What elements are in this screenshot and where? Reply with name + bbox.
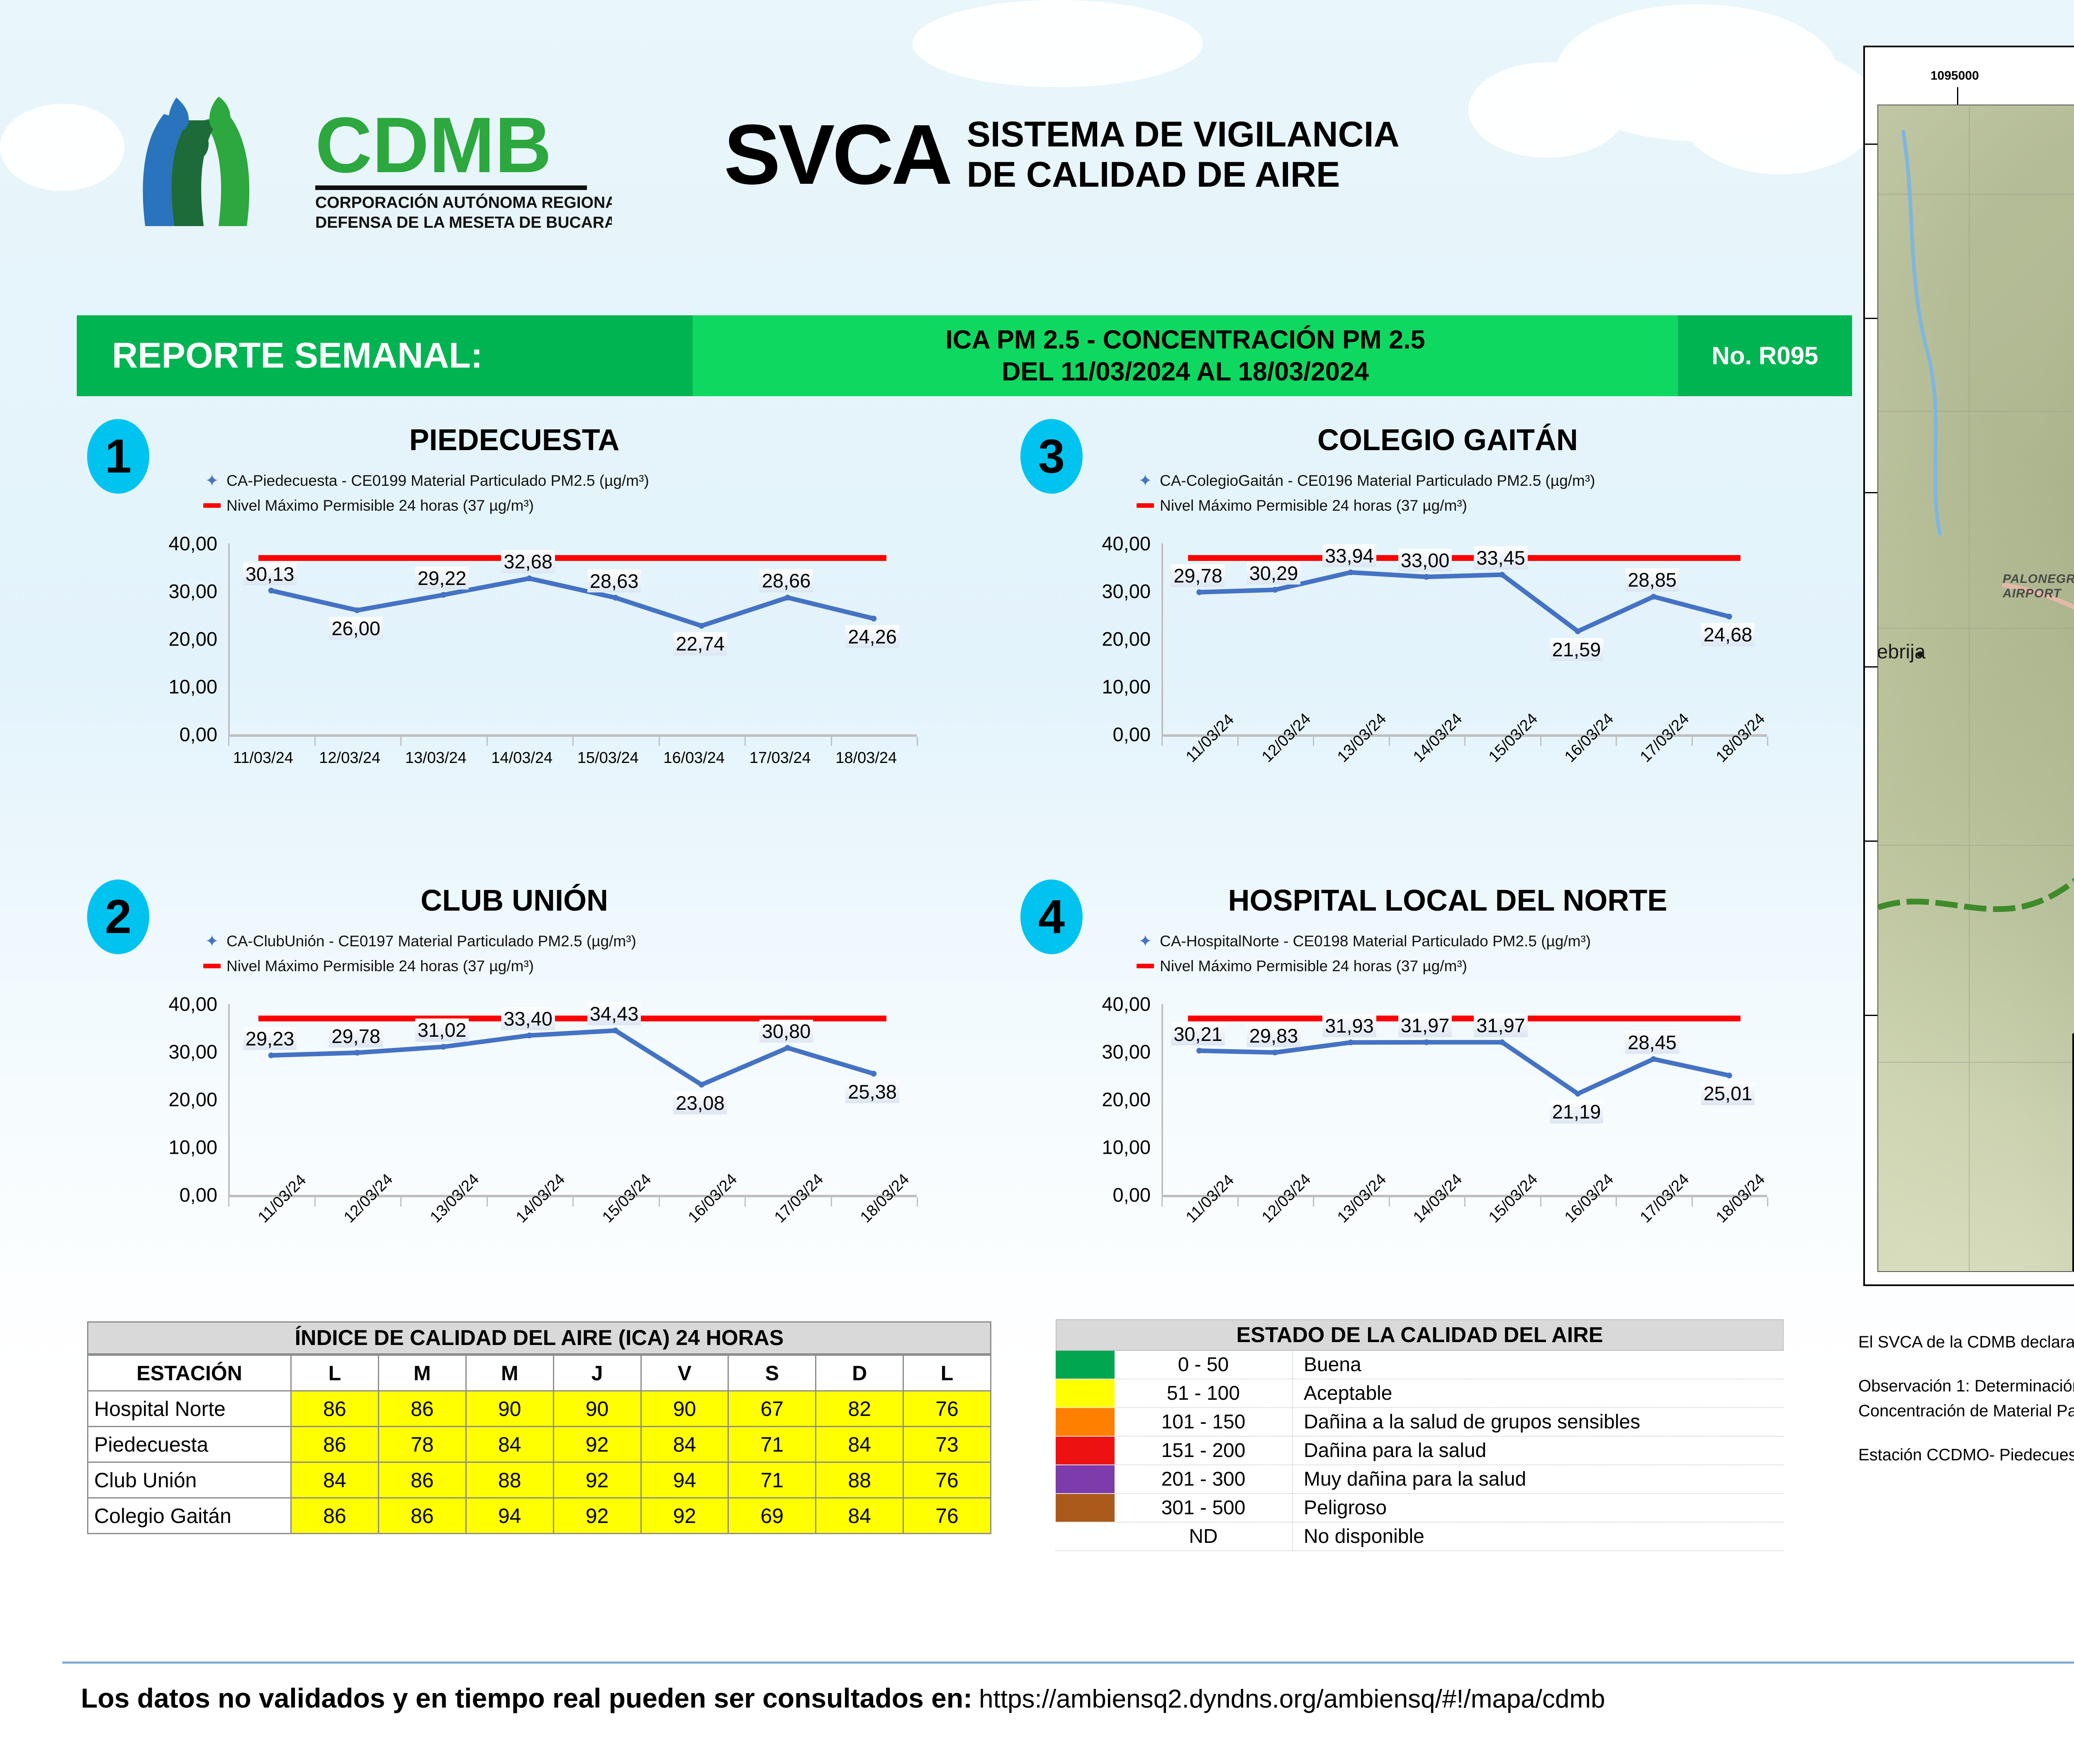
y-axis-tick-label: 0,00: [180, 1184, 217, 1206]
y-axis-tick-label: 0,00: [180, 723, 217, 746]
legend-limit: Nivel Máximo Permisible 24 horas (37 µg/…: [203, 954, 636, 978]
table-header-row: ESTACIÓNLMMJVSDL: [88, 1355, 991, 1391]
svg-text:CDMB: CDMB: [315, 101, 552, 189]
y-axis-tick-label: 20,00: [1102, 628, 1151, 651]
plot-area: 0,0010,0020,0030,0040,0029,2329,7831,023…: [228, 1004, 917, 1195]
aqi-legend-row: NDNo disponible: [1056, 1523, 1784, 1551]
legend-series-label: CA-ClubUnión - CE0197 Material Particula…: [226, 929, 636, 953]
x-axis-tick: [1313, 737, 1314, 746]
note-uncertainty: Estación CCDMO- Piedecuesta: 1.076; Esta…: [1858, 1442, 2074, 1467]
map-tick: [1865, 492, 1879, 493]
chart-legend: ✦CA-Piedecuesta - CE0199 Material Partic…: [203, 468, 649, 517]
x-axis-tick: [659, 737, 660, 746]
x-axis-tick: [1389, 737, 1390, 746]
ica-value-cell: 92: [553, 1462, 641, 1498]
aqi-legend-row: 301 - 500Peligroso: [1056, 1494, 1784, 1523]
map-tick: [1865, 144, 1879, 145]
data-point-label: 34,43: [587, 1002, 641, 1025]
ica-value-cell: 86: [378, 1498, 466, 1534]
map-legend-conventions: CONVENCIONES PUNTO, ESTACION 1, Centro C…: [2072, 1033, 2074, 1272]
ica-col-header: L: [291, 1355, 379, 1391]
aqi-color-swatch: [1056, 1379, 1115, 1407]
note-observation: Observación 1: Determinación Directa en …: [1858, 1374, 2074, 1423]
map-tick: [1865, 318, 1879, 319]
plot-area: 0,0010,0020,0030,0040,0030,2129,8331,933…: [1161, 1004, 1767, 1195]
aqi-legend-title: ESTADO DE LA CALIDAD DEL AIRE: [1056, 1319, 1784, 1351]
data-point-label: 31,97: [1474, 1014, 1528, 1037]
x-axis-tick: [1616, 737, 1617, 746]
legend-series: ✦CA-Piedecuesta - CE0199 Material Partic…: [203, 468, 649, 494]
banner-title-line2: DEL 11/03/2024 AL 18/03/2024: [1002, 356, 1369, 388]
x-axis-tick-label: 13/03/24: [405, 749, 467, 767]
y-axis-tick-label: 10,00: [1102, 675, 1151, 698]
aqi-color-swatch: [1056, 1437, 1115, 1464]
ica-col-header: M: [466, 1355, 553, 1391]
aqi-range-label: 201 - 300: [1115, 1465, 1293, 1493]
ica-value-cell: 76: [903, 1391, 991, 1427]
x-axis-tick: [745, 737, 746, 746]
ica-value-cell: 86: [378, 1462, 466, 1498]
map-tick: [1865, 666, 1879, 668]
legend-limit-label: Nivel Máximo Permisible 24 horas (37 µg/…: [226, 494, 534, 517]
ica-value-cell: 67: [728, 1391, 816, 1427]
data-point-label: 30,80: [759, 1020, 813, 1043]
ica-value-cell: 92: [553, 1427, 641, 1462]
data-point-label: 29,23: [243, 1027, 297, 1050]
aqi-legend-row: 201 - 300Muy dañina para la salud: [1056, 1465, 1784, 1494]
aqi-legend-row: 101 - 150Dañina a la salud de grupos sen…: [1056, 1408, 1784, 1437]
x-axis-tick: [1692, 1197, 1693, 1206]
data-point-label: 25,38: [845, 1080, 899, 1103]
map-x-coord-label: 1095000: [1930, 69, 1979, 83]
data-point-label: 32,68: [501, 550, 555, 573]
x-axis-tick: [1767, 737, 1768, 746]
x-axis-tick: [1464, 737, 1465, 746]
ica-value-cell: 88: [466, 1462, 553, 1498]
x-axis-tick-label: 12/03/24: [319, 749, 380, 767]
chart-legend: ✦CA-ClubUnión - CE0197 Material Particul…: [203, 928, 636, 978]
notes-block: El SVCA de la CDMB declara que los resul…: [1858, 1330, 2074, 1486]
banner-title-line1: ICA PM 2.5 - CONCENTRACIÓN PM 2.5: [945, 324, 1425, 356]
chart-title: CLUB UNIÓN: [224, 884, 805, 918]
y-axis-tick-label: 10,00: [168, 675, 217, 698]
ica-value-cell: 86: [291, 1498, 379, 1534]
ica-col-header: ESTACIÓN: [88, 1355, 291, 1391]
x-axis-tick: [1767, 1197, 1768, 1206]
aqi-range-label: ND: [1115, 1523, 1293, 1550]
x-axis-tick: [228, 737, 229, 746]
aqi-range-label: 151 - 200: [1115, 1437, 1293, 1464]
x-axis-tick: [314, 1197, 316, 1206]
legend-limit-label: Nivel Máximo Permisible 24 horas (37 µg/…: [226, 954, 534, 978]
x-axis-tick: [745, 1197, 746, 1206]
x-axis-tick: [487, 737, 488, 746]
cdmb-logo: CDMB CORPORACIÓN AUTÓNOMA REGIONAL PARA …: [106, 89, 612, 247]
legend-series: ✦CA-HospitalNorte - CE0198 Material Part…: [1137, 928, 1591, 954]
y-axis-tick-label: 0,00: [1113, 1184, 1151, 1206]
ica-value-cell: 82: [816, 1391, 903, 1427]
ica-station-name: Colegio Gaitán: [88, 1498, 291, 1534]
data-point-label: 23,08: [673, 1092, 727, 1114]
aqi-legend-row: 0 - 50Buena: [1056, 1351, 1784, 1379]
aqi-color-swatch: [1056, 1408, 1115, 1436]
org-subtitle-line1: CORPORACIÓN AUTÓNOMA REGIONAL PARA LA: [315, 193, 612, 212]
ica-value-cell: 92: [553, 1498, 641, 1534]
aqi-color-swatch: [1056, 1523, 1115, 1550]
aqi-description: Dañina a la salud de grupos sensibles: [1293, 1408, 1784, 1436]
aqi-description: Muy dañina para la salud: [1293, 1465, 1784, 1493]
legend-limit-label: Nivel Máximo Permisible 24 horas (37 µg/…: [1160, 494, 1467, 517]
legend-limit: Nivel Máximo Permisible 24 horas (37 µg/…: [1137, 494, 1595, 517]
data-point-label: 33,00: [1398, 549, 1452, 572]
legend-limit-label: Nivel Máximo Permisible 24 horas (37 µg/…: [1160, 954, 1467, 978]
ica-col-header: V: [641, 1355, 728, 1391]
y-axis-tick-label: 30,00: [168, 580, 217, 603]
series-marker-icon: ✦: [203, 468, 221, 494]
aqi-color-swatch: [1056, 1465, 1115, 1493]
org-subtitle-line2: DEFENSA DE LA MESETA DE BUCARAMANGA: [315, 214, 612, 231]
data-point-label: 30,21: [1171, 1023, 1225, 1045]
note-validity: El SVCA de la CDMB declara que los resul…: [1858, 1330, 2074, 1355]
station-badge-4: 4: [1020, 880, 1083, 954]
plot-area: 0,0010,0020,0030,0040,0030,1326,0029,223…: [228, 543, 917, 734]
chart-title: HOSPITAL LOCAL DEL NORTE: [1157, 884, 1738, 918]
table-row: Club Unión8486889294718876: [88, 1462, 991, 1498]
ica-value-cell: 84: [291, 1462, 379, 1498]
chart-legend: ✦CA-HospitalNorte - CE0198 Material Part…: [1137, 928, 1591, 978]
aqi-legend-block: ESTADO DE LA CALIDAD DEL AIRE 0 - 50Buen…: [1056, 1319, 1784, 1551]
chart-legend: ✦CA-ColegioGaitán - CE0196 Material Part…: [1137, 468, 1595, 517]
data-point-label: 31,93: [1322, 1014, 1376, 1037]
banner-report-number: No. R095: [1678, 315, 1852, 396]
ica-value-cell: 90: [553, 1391, 641, 1427]
station-badge-2: 2: [87, 880, 149, 954]
y-axis-tick-label: 30,00: [1102, 1040, 1151, 1063]
legend-series-label: CA-ColegioGaitán - CE0196 Material Parti…: [1160, 469, 1595, 492]
ica-station-name: Club Unión: [88, 1462, 291, 1498]
ica-station-name: Hospital Norte: [88, 1391, 291, 1427]
legend-series: ✦CA-ClubUnión - CE0197 Material Particul…: [203, 928, 636, 954]
ica-value-cell: 69: [728, 1498, 816, 1534]
ica-col-header: L: [903, 1355, 991, 1391]
map-vector-layer: [1878, 105, 2074, 1271]
data-point-label: 30,13: [243, 563, 297, 585]
x-axis-tick: [1464, 1197, 1465, 1206]
data-point-label: 29,22: [415, 567, 469, 590]
aqi-legend-row: 151 - 200Dañina para la salud: [1056, 1437, 1784, 1465]
x-axis-tick-label: 14/03/24: [491, 749, 553, 767]
ica-table-block: ÍNDICE DE CALIDAD DEL AIRE (ICA) 24 HORA…: [87, 1321, 991, 1534]
x-axis-tick: [400, 1197, 402, 1206]
ica-table-title: ÍNDICE DE CALIDAD DEL AIRE (ICA) 24 HORA…: [87, 1321, 991, 1355]
x-axis-tick: [1161, 737, 1163, 746]
legend-series: ✦CA-ColegioGaitán - CE0196 Material Part…: [1137, 468, 1595, 494]
x-axis-tick: [572, 1197, 574, 1206]
footer-block: Los datos no validados y en tiempo real …: [81, 1682, 1605, 1714]
map-panel[interactable]: 10950001100000110500011100001115000 1285…: [1863, 46, 2074, 1286]
table-row: Colegio Gaitán8686949292698476: [88, 1498, 991, 1534]
x-axis-tick: [1161, 1197, 1163, 1206]
x-axis-tick: [1540, 1197, 1541, 1206]
x-axis-tick: [1616, 1197, 1617, 1206]
ica-col-header: S: [728, 1355, 816, 1391]
data-point-label: 31,97: [1398, 1014, 1452, 1037]
y-axis-tick-label: 0,00: [1113, 723, 1151, 746]
y-axis-tick-label: 40,00: [1102, 532, 1151, 555]
x-axis-tick-label: 11/03/24: [233, 749, 293, 767]
data-point-label: 26,00: [329, 617, 383, 640]
data-point-label: 33,45: [1474, 546, 1528, 569]
ica-value-cell: 78: [378, 1427, 466, 1462]
ica-value-cell: 84: [816, 1427, 903, 1462]
data-point-label: 28,63: [587, 570, 641, 592]
data-point-label: 28,66: [759, 569, 813, 592]
ica-value-cell: 86: [291, 1427, 379, 1462]
data-point-label: 30,29: [1247, 562, 1301, 585]
ica-col-header: M: [378, 1355, 466, 1391]
legend-series-label: CA-HospitalNorte - CE0198 Material Parti…: [1160, 929, 1591, 953]
ica-table: ESTACIÓNLMMJVSDL Hospital Norte868690909…: [87, 1355, 991, 1534]
data-point-label: 21,59: [1550, 638, 1604, 661]
aqi-color-swatch: [1056, 1351, 1115, 1379]
city-dot: [1917, 651, 1923, 657]
aqi-description: No disponible: [1293, 1523, 1784, 1550]
chart-title: PIEDECUESTA: [224, 423, 805, 457]
limit-line-icon: [203, 503, 221, 508]
x-axis-tick-label: 16/03/24: [663, 749, 725, 767]
aqi-range-label: 101 - 150: [1115, 1408, 1293, 1436]
y-axis-tick-label: 40,00: [1102, 993, 1151, 1016]
x-axis-tick: [487, 1197, 488, 1206]
plot-area: 0,0010,0020,0030,0040,0029,7830,2933,943…: [1161, 543, 1767, 734]
aqi-description: Aceptable: [1293, 1379, 1784, 1407]
banner-center: ICA PM 2.5 - CONCENTRACIÓN PM 2.5 DEL 11…: [693, 315, 1678, 396]
footer-url[interactable]: https://ambiensq2.dyndns.org/ambiensq/#!…: [979, 1684, 1605, 1714]
x-axis-tick: [228, 1197, 229, 1206]
footer-divider: [62, 1662, 2074, 1664]
ica-value-cell: 88: [816, 1462, 903, 1498]
y-axis-tick-label: 20,00: [168, 1088, 217, 1111]
x-axis-tick-label: 17/03/24: [750, 749, 811, 767]
map-canvas[interactable]: PALONEGROAIRPORT N S E W Lebrija Bucaram…: [1877, 105, 2074, 1272]
series-marker-icon: ✦: [203, 928, 221, 954]
chart-title: COLEGIO GAITÁN: [1157, 423, 1738, 457]
map-tick: [1957, 87, 1958, 105]
aqi-range-label: 51 - 100: [1115, 1379, 1293, 1407]
data-point-label: 33,94: [1322, 544, 1376, 567]
svca-subtitle-line2: DE CALIDAD DE AIRE: [967, 155, 1400, 195]
data-point-label: 24,26: [845, 625, 899, 648]
x-axis-tick: [917, 737, 918, 746]
x-axis-tick: [1692, 737, 1693, 746]
x-axis-tick: [400, 737, 402, 746]
x-axis-tick: [1237, 737, 1239, 746]
data-point-label: 25,01: [1701, 1082, 1755, 1105]
y-axis-tick-label: 10,00: [1102, 1136, 1151, 1159]
table-row: Hospital Norte8686909090678276: [88, 1391, 991, 1427]
data-point-label: 29,83: [1247, 1024, 1301, 1047]
limit-line-icon: [1137, 964, 1154, 968]
x-axis-tick: [1389, 1197, 1390, 1206]
data-point-label: 29,78: [1171, 564, 1225, 587]
ica-value-cell: 76: [903, 1498, 991, 1534]
data-point-label: 28,85: [1625, 568, 1679, 591]
ica-value-cell: 71: [728, 1427, 816, 1462]
station-badge-3: 3: [1020, 419, 1083, 494]
y-axis-tick-label: 30,00: [1102, 580, 1151, 603]
data-point-label: 24,68: [1701, 623, 1755, 646]
banner-left: REPORTE SEMANAL:: [77, 315, 693, 396]
data-point-label: 22,74: [673, 632, 727, 655]
svca-subtitle-line1: SISTEMA DE VIGILANCIA: [967, 115, 1400, 154]
legend-limit: Nivel Máximo Permisible 24 horas (37 µg/…: [203, 494, 649, 517]
footer-text: Los datos no validados y en tiempo real …: [81, 1682, 972, 1714]
aqi-description: Peligroso: [1293, 1494, 1784, 1522]
aqi-range-label: 0 - 50: [1115, 1351, 1293, 1379]
y-axis-tick-label: 20,00: [168, 628, 217, 651]
page-header: CDMB CORPORACIÓN AUTÓNOMA REGIONAL PARA …: [0, 0, 1825, 307]
y-axis-tick-label: 40,00: [168, 993, 217, 1016]
map-tick: [1865, 1015, 1879, 1016]
ica-value-cell: 94: [466, 1498, 553, 1534]
ica-value-cell: 71: [728, 1462, 816, 1498]
ica-col-header: J: [553, 1355, 641, 1391]
x-axis-tick: [831, 737, 832, 746]
report-banner: REPORTE SEMANAL: ICA PM 2.5 - CONCENTRAC…: [77, 315, 1852, 396]
x-axis-tick-label: 15/03/24: [577, 749, 639, 767]
data-point-label: 31,02: [415, 1018, 469, 1041]
aqi-color-swatch: [1056, 1494, 1115, 1522]
series-marker-icon: ✦: [1137, 468, 1154, 494]
data-point-label: 29,78: [329, 1025, 383, 1048]
ica-value-cell: 90: [466, 1391, 553, 1427]
ica-col-header: D: [816, 1355, 903, 1391]
aqi-range-label: 301 - 500: [1115, 1494, 1293, 1522]
legend-limit: Nivel Máximo Permisible 24 horas (37 µg/…: [1137, 954, 1591, 978]
x-axis-tick: [1237, 1197, 1239, 1206]
map-tick: [1865, 841, 1879, 842]
station-badge-1: 1: [87, 419, 149, 494]
y-axis-tick-label: 30,00: [168, 1040, 217, 1063]
x-axis-tick: [1313, 1197, 1314, 1206]
y-axis-tick-label: 40,00: [168, 532, 217, 555]
table-row: Piedecuesta8678849284718473: [88, 1427, 991, 1462]
aqi-description: Buena: [1293, 1351, 1784, 1379]
ica-station-name: Piedecuesta: [88, 1427, 291, 1462]
x-axis-tick: [917, 1197, 918, 1206]
data-point-label: 33,40: [501, 1007, 555, 1030]
airport-label: PALONEGROAIRPORT: [2003, 572, 2074, 601]
x-axis-tick: [659, 1197, 660, 1206]
x-axis-tick: [314, 737, 316, 746]
limit-line-icon: [1137, 503, 1154, 508]
ica-value-cell: 86: [291, 1391, 379, 1427]
x-axis-tick-label: 18/03/24: [835, 749, 897, 767]
data-point-label: 28,45: [1625, 1031, 1679, 1054]
banner-report-label: REPORTE SEMANAL:: [112, 335, 482, 376]
ica-value-cell: 86: [378, 1391, 466, 1427]
legend-series-label: CA-Piedecuesta - CE0199 Material Particu…: [226, 469, 649, 492]
ica-value-cell: 94: [641, 1462, 728, 1498]
limit-line-icon: [203, 964, 221, 968]
x-axis-tick: [572, 737, 574, 746]
ica-value-cell: 84: [641, 1427, 728, 1462]
svca-acronym: SVCA: [724, 112, 950, 197]
aqi-legend-row: 51 - 100Aceptable: [1056, 1379, 1784, 1408]
ica-value-cell: 84: [466, 1427, 553, 1462]
aqi-description: Dañina para la salud: [1293, 1437, 1784, 1464]
ica-value-cell: 84: [816, 1498, 903, 1534]
ica-value-cell: 76: [903, 1462, 991, 1498]
y-axis-tick-label: 10,00: [168, 1136, 217, 1159]
x-axis-tick: [1540, 737, 1541, 746]
y-axis-tick-label: 20,00: [1102, 1088, 1151, 1111]
series-marker-icon: ✦: [1137, 928, 1154, 954]
ica-value-cell: 73: [903, 1427, 991, 1462]
ica-value-cell: 92: [641, 1498, 728, 1534]
data-point-label: 21,19: [1550, 1100, 1604, 1123]
ica-value-cell: 90: [641, 1391, 728, 1427]
x-axis-tick: [831, 1197, 832, 1206]
